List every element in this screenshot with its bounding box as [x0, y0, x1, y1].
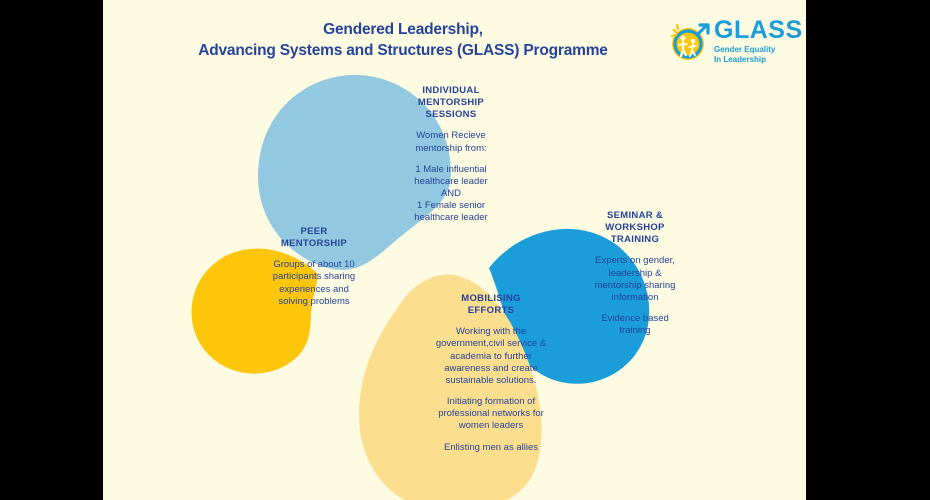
- petal-paragraph: Initiating formation of professional net…: [403, 396, 579, 432]
- letterbox-right-bar: [806, 0, 930, 500]
- spacer: [573, 246, 697, 255]
- body-line: professional networks for: [403, 408, 579, 420]
- body-line: 1 Female senior: [386, 200, 516, 212]
- body-line: leadership &: [573, 268, 697, 280]
- heading-line: MENTORSHIP: [386, 97, 516, 109]
- body-line: Groups of about 10: [253, 259, 375, 271]
- heading-line: PEER: [253, 226, 375, 238]
- body-line: academia to further: [403, 351, 579, 363]
- petal-text-peer-mentorship: PEER MENTORSHIP Groups of about 10 parti…: [253, 226, 375, 308]
- body-line: participants sharing: [253, 271, 375, 283]
- petal-heading: SEMINAR & WORKSHOP TRAINING: [573, 210, 697, 246]
- body-line: experiences and: [253, 284, 375, 296]
- body-line: 1 Male influential: [386, 164, 516, 176]
- petal-paragraph: Groups of about 10 participants sharing …: [253, 259, 375, 308]
- body-line: Evidence based: [573, 313, 697, 325]
- body-line: sustainable solutions.: [403, 375, 579, 387]
- spacer: [403, 317, 579, 326]
- body-line: Working with the: [403, 326, 579, 338]
- body-line: training: [573, 325, 697, 337]
- petal-heading: PEER MENTORSHIP: [253, 226, 375, 250]
- petal-heading: MOBILISING EFFORTS: [403, 293, 579, 317]
- body-line: government,civil service &: [403, 338, 579, 350]
- petal-paragraph: Experts on gender, leadership & mentorsh…: [573, 255, 697, 304]
- body-line: Enlisting men as allies: [403, 442, 579, 454]
- body-line: solving problems: [253, 296, 375, 308]
- heading-line: SESSIONS: [386, 109, 516, 121]
- heading-line: SEMINAR &: [573, 210, 697, 222]
- body-line: information: [573, 292, 697, 304]
- heading-line: INDIVIDUAL: [386, 85, 516, 97]
- petal-text-mobilising-efforts: MOBILISING EFFORTS Working with the gove…: [403, 293, 579, 454]
- body-line: AND: [386, 188, 516, 200]
- body-line: mentorship from:: [386, 143, 516, 155]
- spacer: [386, 121, 516, 130]
- heading-line: EFFORTS: [403, 305, 579, 317]
- letterbox-left-bar: [0, 0, 103, 500]
- petal-heading: INDIVIDUAL MENTORSHIP SESSIONS: [386, 85, 516, 121]
- petal-paragraph: Women Recieve mentorship from:: [386, 130, 516, 154]
- heading-line: WORKSHOP: [573, 222, 697, 234]
- body-line: healthcare leader: [386, 176, 516, 188]
- body-line: healthcare leader: [386, 212, 516, 224]
- body-line: Experts on gender,: [573, 255, 697, 267]
- petal-paragraph: Evidence based training: [573, 313, 697, 337]
- screenshot-stage: Gendered Leadership, Advancing Systems a…: [0, 0, 930, 500]
- petal-paragraph: Working with the government,civil servic…: [403, 326, 579, 387]
- heading-line: MOBILISING: [403, 293, 579, 305]
- body-line: Women Recieve: [386, 130, 516, 142]
- petal-text-seminar-workshop-training: SEMINAR & WORKSHOP TRAINING Experts on g…: [573, 210, 697, 337]
- spacer: [403, 387, 579, 396]
- spacer: [253, 250, 375, 259]
- body-line: mentorship sharing: [573, 280, 697, 292]
- heading-line: MENTORSHIP: [253, 238, 375, 250]
- spacer: [386, 155, 516, 164]
- infographic-canvas: Gendered Leadership, Advancing Systems a…: [103, 0, 806, 500]
- heading-line: TRAINING: [573, 234, 697, 246]
- petal-paragraph: 1 Male influential healthcare leader AND…: [386, 164, 516, 225]
- spacer: [403, 433, 579, 442]
- body-line: Initiating formation of: [403, 396, 579, 408]
- spacer: [573, 304, 697, 313]
- petal-paragraph: Enlisting men as allies: [403, 442, 579, 454]
- body-line: awareness and create: [403, 363, 579, 375]
- body-line: women leaders: [403, 420, 579, 432]
- petal-text-individual-mentorship-sessions: INDIVIDUAL MENTORSHIP SESSIONS Women Rec…: [386, 85, 516, 225]
